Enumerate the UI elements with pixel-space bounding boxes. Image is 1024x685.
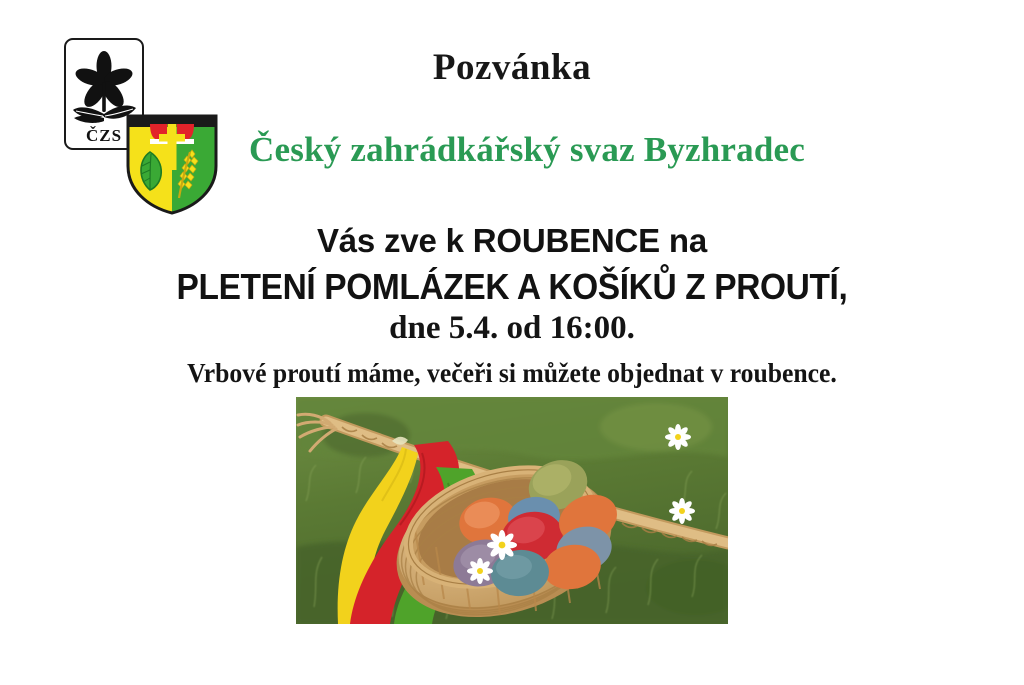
invitation-note: Vrbové proutí máme, večeři si můžete obj… bbox=[26, 359, 999, 387]
page-title: Pozvánka bbox=[0, 49, 1024, 88]
invitation-poster: ČZS bbox=[0, 0, 1024, 685]
invitation-date-time: dne 5.4. od 16:00. bbox=[0, 311, 1024, 346]
invitation-line-1: Vás zve k ROUBENCE na bbox=[0, 224, 1024, 259]
easter-basket-photo bbox=[296, 397, 728, 624]
easter-basket-illustration bbox=[296, 397, 728, 624]
invitation-line-2: PLETENÍ POMLÁZEK A KOŠÍKŮ Z PROUTÍ, bbox=[36, 268, 988, 306]
organization-name: Český zahrádkářský svaz Byzhradec bbox=[0, 132, 1024, 169]
